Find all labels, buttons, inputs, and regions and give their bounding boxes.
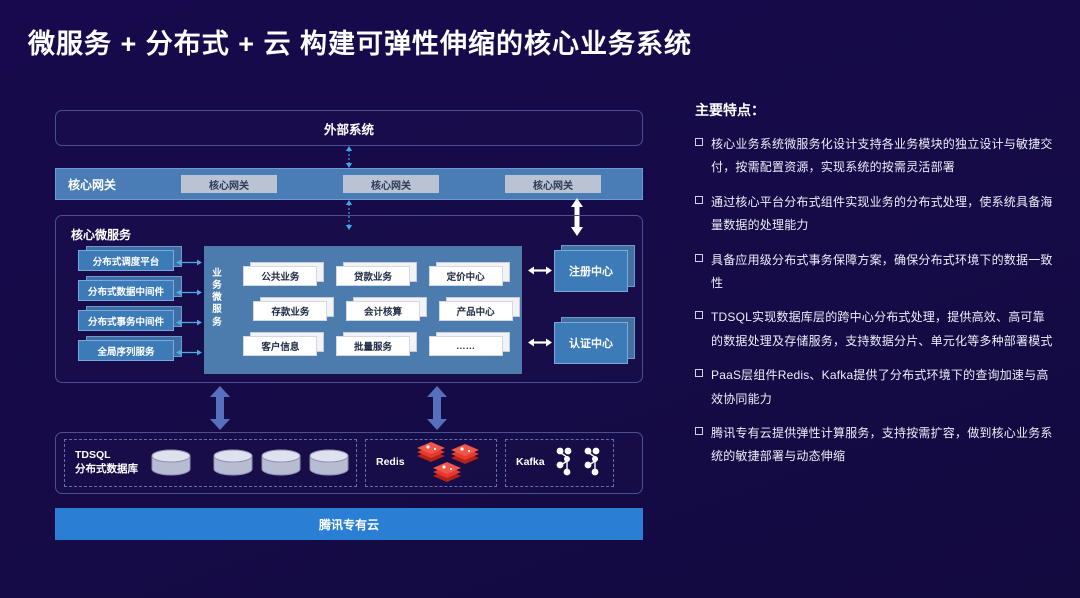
database-cylinder-group: [150, 448, 350, 478]
middleware-box[interactable]: 分布式事务中间件: [78, 310, 174, 331]
service-card-label: 会计核算: [346, 301, 420, 321]
core-microservice-title: 核心微服务: [71, 226, 131, 243]
data-layer-container: TDSQL 分布式数据库: [55, 432, 643, 494]
service-card[interactable]: 批量服务: [336, 336, 410, 356]
service-card[interactable]: ……: [429, 336, 503, 356]
service-card-label: 客户信息: [243, 336, 317, 356]
kafka-label: Kafka: [516, 456, 545, 470]
auth-center-box[interactable]: 认证中心: [554, 322, 628, 364]
bullet-square-icon: [695, 427, 703, 435]
feature-text: TDSQL实现数据库层的跨中心分布式处理，提供高效、高可靠的数据处理及存储服务，…: [711, 306, 1055, 353]
external-system-label: 外部系统: [324, 119, 374, 138]
private-cloud-label: 腾讯专有云: [319, 516, 379, 533]
features-title: 主要特点：: [695, 100, 1055, 120]
external-system-box: 外部系统: [55, 110, 643, 146]
connector-arrow-external-gateway: [342, 146, 356, 168]
service-card-label: 批量服务: [336, 336, 410, 356]
service-card-grid: 公共业务 贷款业务 定价中心 存款业务: [234, 258, 512, 364]
auth-center-label: 认证中心: [554, 322, 628, 364]
database-cylinder-icon: [260, 448, 302, 478]
core-gateway-bar: 核心网关 核心网关 核心网关 核心网关: [55, 168, 643, 200]
gateway-chip[interactable]: 核心网关: [343, 175, 439, 193]
middleware-column: 分布式调度平台 分布式数据中间件 分布式事务中间件 全局序列服务: [78, 250, 174, 361]
service-card[interactable]: 客户信息: [243, 336, 317, 356]
bullet-square-icon: [695, 369, 703, 377]
feature-item: 具备应用级分布式事务保障方案，确保分布式环境下的数据一致性: [695, 249, 1055, 296]
redis-group: Redis: [365, 439, 497, 487]
connector-arrow-middleware: [176, 258, 202, 267]
feature-text: 通过核心平台分布式组件实现业务的分布式处理，使系统具备海量数据的处理能力: [711, 191, 1055, 238]
business-microservice-vertical-label: 业务微服务: [210, 268, 224, 329]
tdsql-label-line2: 分布式数据库: [75, 463, 138, 475]
bullet-square-icon: [695, 254, 703, 262]
connector-arrow-middleware: [176, 318, 202, 327]
feature-text: 腾讯专有云提供弹性计算服务，支持按需扩容，做到核心业务系统的敏捷部署与动态伸缩: [711, 422, 1055, 469]
service-card[interactable]: 贷款业务: [336, 266, 410, 286]
tdsql-group: TDSQL 分布式数据库: [64, 439, 357, 487]
connector-arrow-register-center: [528, 265, 552, 276]
private-cloud-bar: 腾讯专有云: [55, 508, 643, 540]
middleware-label: 分布式调度平台: [78, 250, 174, 271]
service-card-label: 存款业务: [253, 301, 327, 321]
feature-text: PaaS层组件Redis、Kafka提供了分布式环境下的查询加速与高效协同能力: [711, 364, 1055, 411]
service-card-label: 产品中心: [439, 301, 513, 321]
middleware-label: 分布式事务中间件: [78, 310, 174, 331]
feature-item: 通过核心平台分布式组件实现业务的分布式处理，使系统具备海量数据的处理能力: [695, 191, 1055, 238]
register-center-label: 注册中心: [554, 250, 628, 292]
service-card[interactable]: 会计核算: [346, 301, 420, 321]
bullet-square-icon: [695, 138, 703, 146]
database-cylinder-icon: [212, 448, 254, 478]
service-card[interactable]: 存款业务: [253, 301, 327, 321]
connector-arrow-data-right: [424, 386, 450, 430]
kafka-group: Kafka: [505, 439, 614, 487]
kafka-icon: [551, 443, 613, 483]
service-card-label: 公共业务: [243, 266, 317, 286]
feature-text: 核心业务系统微服务化设计支持各业务模块的独立设计与敏捷交付，按需配置资源，实现系…: [711, 133, 1055, 180]
tdsql-label-line1: TDSQL: [75, 449, 111, 461]
connector-arrow-auth-center: [528, 337, 552, 348]
middleware-box[interactable]: 分布式数据中间件: [78, 280, 174, 301]
connector-arrow-middleware: [176, 348, 202, 357]
redis-icon: [411, 440, 483, 486]
architecture-diagram: 外部系统 核心网关 核心网关 核心网关 核心网关: [55, 110, 643, 540]
gateway-chip[interactable]: 核心网关: [505, 175, 601, 193]
tdsql-label: TDSQL 分布式数据库: [75, 449, 138, 476]
feature-item: 腾讯专有云提供弹性计算服务，支持按需扩容，做到核心业务系统的敏捷部署与动态伸缩: [695, 422, 1055, 469]
slide-root: 微服务 + 分布式 + 云 构建可弹性伸缩的核心业务系统 外部系统 核心网关 核…: [0, 0, 1080, 598]
core-microservice-container: 核心微服务 分布式调度平台 分布式数据中间件 分布式事务中间件 全局序列服务: [55, 215, 643, 383]
features-panel: 主要特点： 核心业务系统微服务化设计支持各业务模块的独立设计与敏捷交付，按需配置…: [695, 100, 1055, 480]
service-card[interactable]: 产品中心: [439, 301, 513, 321]
feature-item: PaaS层组件Redis、Kafka提供了分布式环境下的查询加速与高效协同能力: [695, 364, 1055, 411]
redis-label: Redis: [376, 456, 405, 470]
page-title: 微服务 + 分布式 + 云 构建可弹性伸缩的核心业务系统: [28, 22, 692, 61]
bullet-square-icon: [695, 311, 703, 319]
feature-item: TDSQL实现数据库层的跨中心分布式处理，提供高效、高可靠的数据处理及存储服务，…: [695, 306, 1055, 353]
side-center-column: 注册中心 认证中心: [554, 250, 628, 364]
feature-text: 具备应用级分布式事务保障方案，确保分布式环境下的数据一致性: [711, 249, 1055, 296]
service-card[interactable]: 公共业务: [243, 266, 317, 286]
core-gateway-title: 核心网关: [68, 176, 148, 193]
service-card[interactable]: 定价中心: [429, 266, 503, 286]
connector-arrow-middleware: [176, 288, 202, 297]
feature-item: 核心业务系统微服务化设计支持各业务模块的独立设计与敏捷交付，按需配置资源，实现系…: [695, 133, 1055, 180]
register-center-box[interactable]: 注册中心: [554, 250, 628, 292]
connector-arrow-data-left: [207, 386, 233, 430]
middleware-label: 全局序列服务: [78, 340, 174, 361]
bullet-square-icon: [695, 196, 703, 204]
middleware-label: 分布式数据中间件: [78, 280, 174, 301]
database-cylinder-icon: [308, 448, 350, 478]
database-cylinder-icon: [150, 448, 192, 478]
business-microservice-panel: 业务微服务 公共业务 贷款业务 定价中心: [204, 246, 522, 374]
gateway-chip[interactable]: 核心网关: [181, 175, 277, 193]
service-card-label: 贷款业务: [336, 266, 410, 286]
service-card-label: 定价中心: [429, 266, 503, 286]
middleware-box[interactable]: 全局序列服务: [78, 340, 174, 361]
middleware-box[interactable]: 分布式调度平台: [78, 250, 174, 271]
core-gateway-chip-group: 核心网关 核心网关 核心网关: [148, 175, 642, 193]
service-card-label: ……: [429, 336, 503, 356]
